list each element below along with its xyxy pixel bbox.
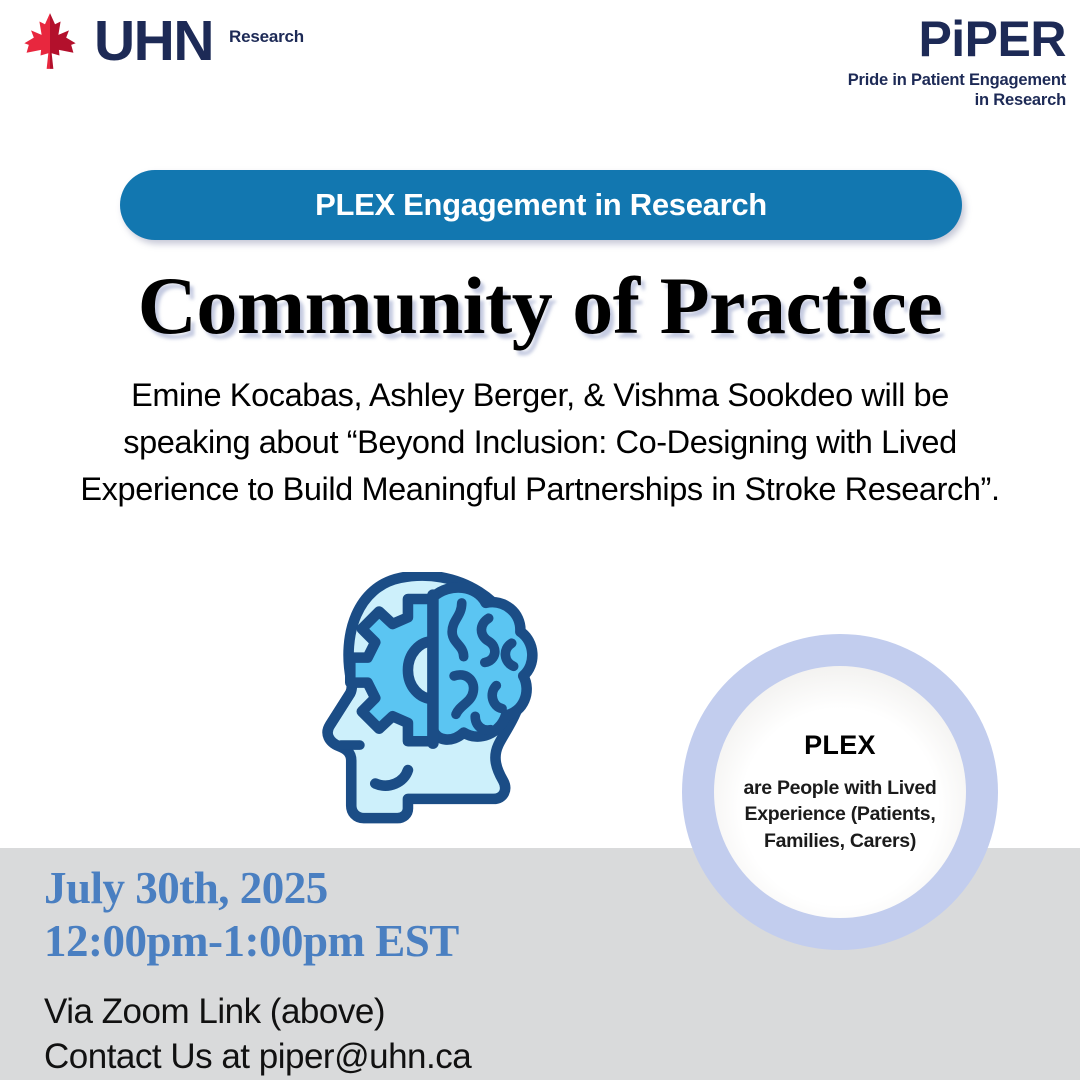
event-time: 12:00pm-1:00pm EST bbox=[44, 915, 471, 968]
session-description: Emine Kocabas, Ashley Berger, & Vishma S… bbox=[68, 372, 1012, 512]
plex-callout-description: are People with Lived Experience (Patien… bbox=[714, 775, 966, 855]
piper-logo: PiPER Pride in Patient Engagement in Res… bbox=[848, 14, 1066, 110]
piper-wordmark: PiPER bbox=[848, 14, 1066, 64]
event-date: July 30th, 2025 bbox=[44, 862, 471, 915]
maple-leaf-icon bbox=[22, 12, 78, 70]
piper-tagline-line2: in Research bbox=[848, 90, 1066, 110]
poster-canvas: UHN Research PiPER Pride in Patient Enga… bbox=[0, 0, 1080, 1080]
plex-definition-callout: PLEX are People with Lived Experience (P… bbox=[682, 634, 998, 950]
piper-tagline: Pride in Patient Engagement in Research bbox=[848, 70, 1066, 110]
uhn-wordmark: UHN bbox=[94, 13, 213, 70]
plex-callout-inner: PLEX are People with Lived Experience (P… bbox=[714, 666, 966, 918]
event-contact: Contact Us at piper@uhn.ca bbox=[44, 1035, 471, 1080]
page-title: Community of Practice bbox=[0, 265, 1080, 347]
event-details: July 30th, 2025 12:00pm-1:00pm EST Via Z… bbox=[44, 862, 471, 1080]
series-banner: PLEX Engagement in Research bbox=[120, 170, 962, 240]
plex-callout-title: PLEX bbox=[804, 730, 876, 761]
piper-tagline-line1: Pride in Patient Engagement bbox=[848, 70, 1066, 90]
series-banner-label: PLEX Engagement in Research bbox=[315, 187, 767, 223]
uhn-research-label: Research bbox=[229, 27, 304, 47]
uhn-research-logo: UHN Research bbox=[22, 12, 304, 70]
head-with-gear-and-brain-icon bbox=[308, 572, 554, 824]
event-location: Via Zoom Link (above) bbox=[44, 990, 471, 1035]
